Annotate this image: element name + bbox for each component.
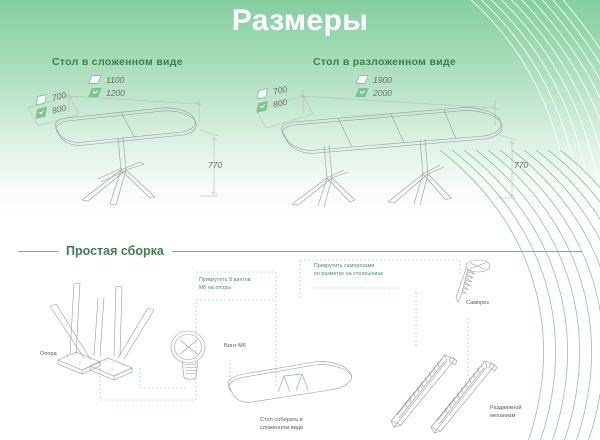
page-title: Размеры bbox=[0, 4, 600, 38]
option-row[interactable]: 1900 bbox=[357, 74, 392, 85]
heading-unfolded-table: Стол в разложенном виде bbox=[313, 56, 456, 68]
option-label: 1200 bbox=[106, 88, 125, 98]
divider-line-left bbox=[18, 251, 58, 252]
support-legs-illustration bbox=[28, 278, 178, 398]
checkbox-unchecked-icon[interactable] bbox=[257, 88, 268, 100]
heading-folded-table: Стол в сложенном виде bbox=[52, 56, 183, 68]
label-support: Опора bbox=[40, 350, 57, 358]
option-label: 1100 bbox=[106, 75, 124, 85]
unfolded-depth-options: 700 800 bbox=[257, 86, 287, 112]
option-row[interactable]: 2000 bbox=[357, 87, 392, 98]
label-screw: Саморез bbox=[466, 299, 489, 307]
label-fold-note: Стол собирать в сложенном виде bbox=[260, 416, 303, 433]
bolt-m6-illustration bbox=[165, 328, 225, 383]
assembly-section: Прикрутить 8 винтов М6 на опоры Прикрути… bbox=[0, 258, 600, 440]
checkbox-unchecked-icon[interactable] bbox=[355, 75, 369, 84]
assembly-divider: Простая сборка bbox=[18, 243, 582, 259]
assembly-heading: Простая сборка bbox=[58, 244, 172, 258]
option-row[interactable]: 1100 bbox=[90, 74, 125, 85]
option-label: 800 bbox=[272, 96, 288, 109]
folded-width-options: 1100 1200 bbox=[90, 74, 125, 100]
checkbox-checked-icon[interactable] bbox=[257, 101, 268, 113]
label-mechanism: Раздвижной механизм bbox=[490, 404, 521, 421]
option-row[interactable]: 1200 bbox=[90, 87, 125, 98]
slide-mechanism-illustration bbox=[385, 353, 535, 438]
option-label: 700 bbox=[51, 89, 67, 102]
unfolded-width-options: 1900 2000 bbox=[357, 74, 392, 100]
checkbox-checked-icon[interactable] bbox=[36, 107, 47, 119]
infographic-page: Размеры Стол в сложенном виде Стол в раз… bbox=[0, 0, 600, 440]
option-label: 2000 bbox=[373, 88, 392, 98]
checkbox-unchecked-icon[interactable] bbox=[36, 94, 47, 106]
option-label: 700 bbox=[272, 83, 288, 96]
folded-table-assembly-illustration bbox=[218, 354, 358, 418]
checkbox-unchecked-icon[interactable] bbox=[88, 75, 102, 84]
note-self-tapping: Прикрутить саморезами по разметке на сто… bbox=[314, 262, 384, 278]
folded-height-value: 770 bbox=[208, 160, 222, 170]
checkbox-checked-icon[interactable] bbox=[88, 88, 102, 97]
label-bolt: Винт М6 bbox=[224, 342, 246, 350]
option-label: 800 bbox=[51, 102, 67, 115]
unfolded-height-value: 770 bbox=[514, 160, 528, 170]
folded-depth-options: 700 800 bbox=[36, 92, 66, 118]
checkbox-checked-icon[interactable] bbox=[355, 88, 369, 97]
option-label: 1900 bbox=[373, 75, 392, 85]
divider-line-right bbox=[172, 251, 582, 252]
note-screw-supports: Прикрутить 8 винтов М6 на опоры bbox=[199, 276, 251, 292]
unfolded-table-drawing bbox=[250, 78, 540, 208]
